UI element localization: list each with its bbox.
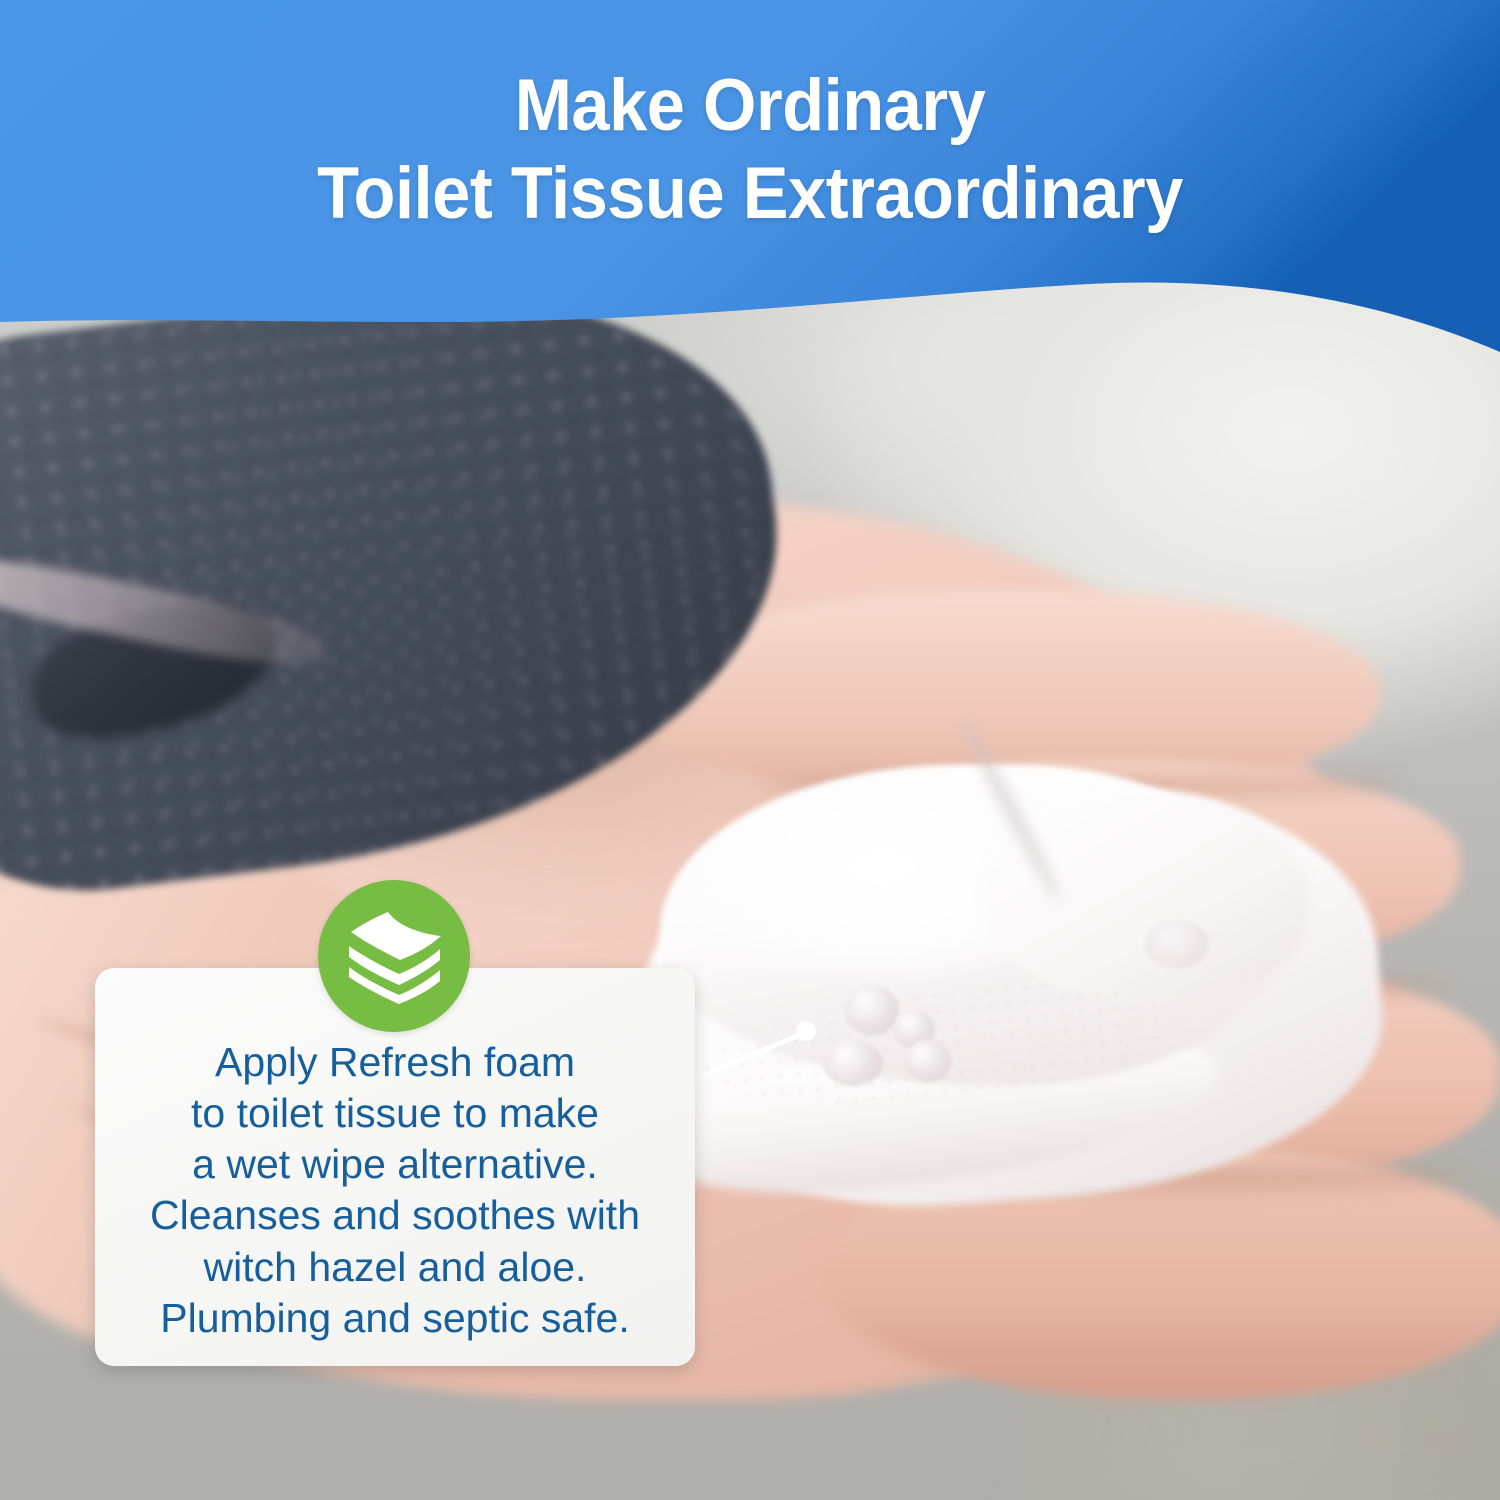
headline-line-1: Make Ordinary [515,65,986,146]
foam-bubble [845,985,899,1035]
info-card-text: Apply Refresh foam to toilet tissue to m… [95,1037,695,1367]
stacked-tissue-sheets-icon [318,880,470,1032]
headline-line-2: Toilet Tissue Extraordinary [45,150,1455,238]
foam-bubble [823,1040,883,1086]
foam-bubble [905,1040,951,1082]
page-title: Make Ordinary Toilet Tissue Extraordinar… [45,62,1455,237]
stacked-tissue-sheets-glyph [342,908,446,1004]
info-line: Cleanses and soothes with [117,1190,673,1241]
info-line: Plumbing and septic safe. [117,1293,673,1344]
info-line: to toilet tissue to make [117,1088,673,1139]
info-line: Apply Refresh foam [117,1037,673,1088]
info-line: a wet wipe alternative. [117,1139,673,1190]
product-feature-graphic: Make Ordinary Toilet Tissue Extraordinar… [0,0,1500,1500]
foam-bubble [1145,920,1209,968]
info-line: witch hazel and aloe. [117,1242,673,1293]
